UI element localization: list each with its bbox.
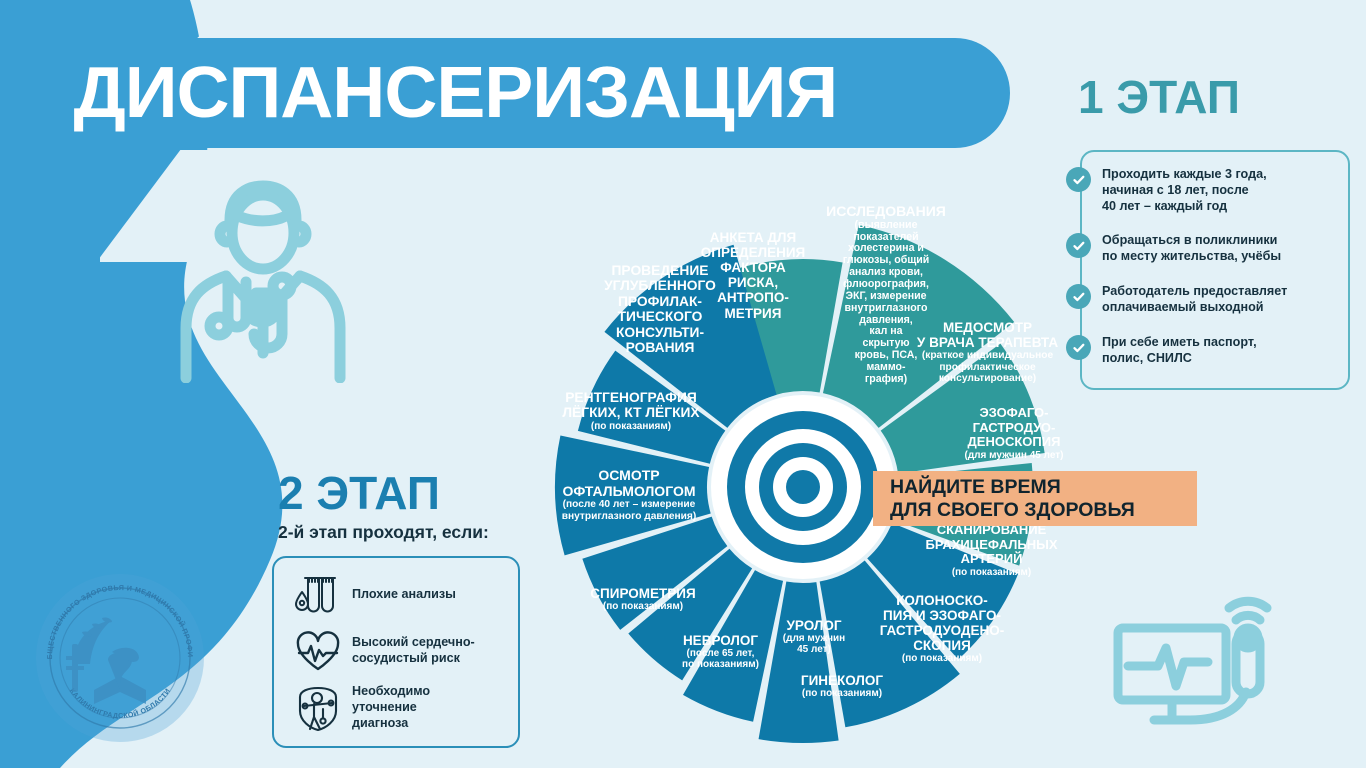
stage1-item-label: При себе иметь паспорт, полис, СНИЛС — [1102, 334, 1257, 366]
banner-line-1: НАЙДИТЕ ВРЕМЯ — [890, 476, 1197, 499]
stage1-card: Проходить каждые 3 года, начиная с 18 ле… — [1080, 150, 1350, 390]
stage2-card: Плохие анализы Высокий сердечно- сосудис… — [272, 556, 520, 748]
infographic-root: ДИСПАНСЕРИЗАЦИЯ 1 ЭТАП Проходить ка — [0, 0, 1366, 768]
stage1-item-0: Проходить каждые 3 года, начиная с 18 ле… — [1066, 166, 1366, 214]
stage2-subheading: 2-й этап проходят, если: — [278, 522, 489, 543]
stage1-item-label: Проходить каждые 3 года, начиная с 18 ле… — [1102, 166, 1267, 214]
doctor-icon — [172, 178, 354, 383]
stage1-item-3: При себе иметь паспорт, полис, СНИЛС — [1066, 334, 1366, 366]
stage2-item-1: Высокий сердечно- сосудистый риск — [292, 628, 517, 674]
test-tubes-icon — [292, 572, 344, 618]
stage1-item-1: Обращаться в поликлиники по месту житель… — [1066, 232, 1366, 264]
stage2-item-label: Плохие анализы — [352, 587, 456, 603]
call-to-action-banner: НАЙДИТЕ ВРЕМЯ ДЛЯ СВОЕГО ЗДОРОВЬЯ — [873, 471, 1197, 526]
target-center-icon — [711, 395, 895, 579]
stage1-item-2: Работодатель предоставляет оплачиваемый … — [1066, 283, 1366, 315]
stage1-item-label: Обращаться в поликлиники по месту житель… — [1102, 232, 1281, 264]
wheel-svg — [519, 168, 1103, 752]
stage1-item-label: Работодатель предоставляет оплачиваемый … — [1102, 283, 1287, 315]
stage2-item-2: Необходимо уточнение диагноза — [292, 684, 517, 732]
banner-line-2: ДЛЯ СВОЕГО ЗДОРОВЬЯ — [890, 499, 1197, 522]
page-title-bar: ДИСПАНСЕРИЗАЦИЯ — [0, 38, 1010, 148]
monitor-ultrasound-icon — [1112, 596, 1292, 746]
stage2-item-0: Плохие анализы — [292, 572, 517, 618]
organization-seal: ЦЕНТР ОБЩЕСТВЕННОГО ЗДОРОВЬЯ И МЕДИЦИНСК… — [34, 572, 206, 744]
stage2-item-label: Необходимо уточнение диагноза — [352, 684, 430, 732]
heart-ecg-icon — [292, 628, 344, 674]
diagnosis-patient-icon — [292, 685, 344, 731]
stage2-heading: 2 ЭТАП — [278, 470, 440, 516]
page-title: ДИСПАНСЕРИЗАЦИЯ — [0, 57, 837, 129]
stage2-item-label: Высокий сердечно- сосудистый риск — [352, 635, 475, 667]
stage1-heading: 1 ЭТАП — [1078, 74, 1240, 120]
diagnostics-wheel: АНКЕТА ДЛЯ ОПРЕДЕЛЕНИЯ ФАКТОРА РИСКА, АН… — [519, 168, 1103, 752]
